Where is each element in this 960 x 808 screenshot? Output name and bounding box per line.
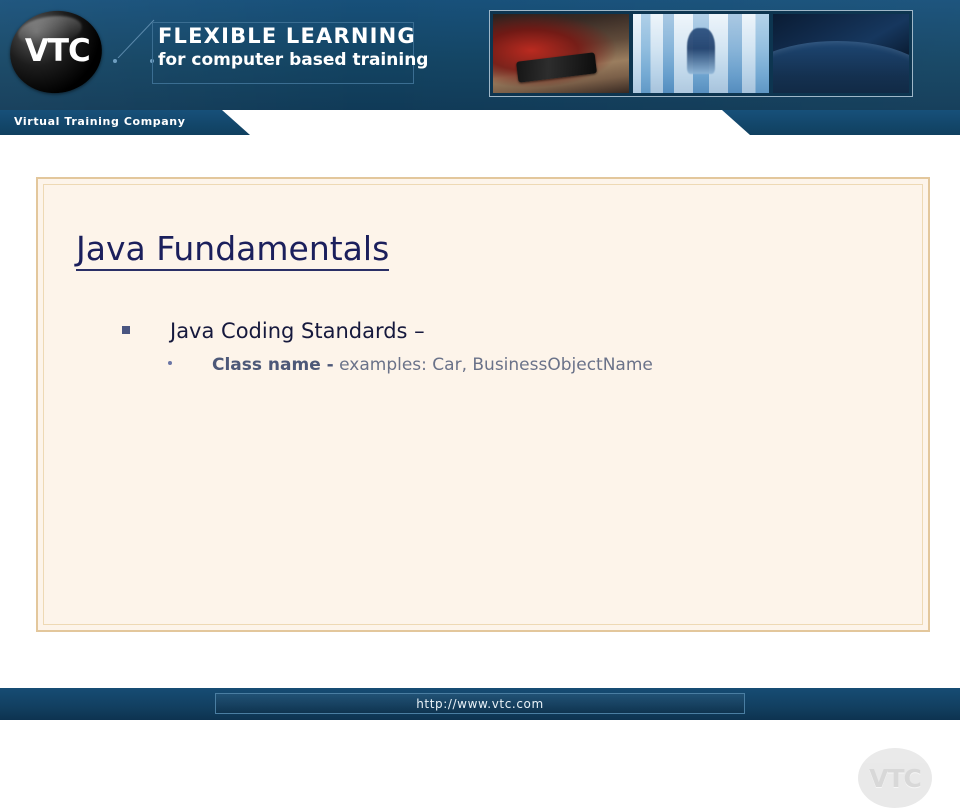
connector-line-icon	[116, 18, 156, 58]
tagline-primary: FLEXIBLE LEARNING	[158, 26, 410, 47]
round-bullet-icon	[168, 361, 172, 365]
logo-label: VTC	[24, 35, 89, 66]
footer-url-label: http://www.vtc.com	[416, 697, 544, 711]
bullet-level2-rest: examples: Car, BusinessObjectName	[334, 355, 653, 375]
page-header: VTC FLEXIBLE LEARNING for computer based…	[0, 0, 960, 110]
square-bullet-icon	[122, 326, 130, 334]
night-skyline-light-photo	[773, 14, 909, 93]
connector-dot-left-icon	[113, 59, 117, 63]
footer-url-box[interactable]: http://www.vtc.com	[215, 693, 745, 714]
company-name-label: Virtual Training Company	[14, 115, 185, 128]
hand-on-calculator-photo	[493, 14, 629, 93]
slide-title: Java Fundamentals	[76, 232, 389, 271]
vtc-watermark-label: VTC	[869, 764, 921, 793]
vtc-oval-logo-icon: VTC	[5, 5, 108, 99]
page-footer: http://www.vtc.com	[0, 688, 960, 720]
bullet-level2-strong: Class name -	[212, 355, 334, 375]
slide-area: Java Fundamentals Java Coding Standards …	[0, 135, 960, 688]
bullet-level1-label: Java Coding Standards –	[170, 321, 425, 342]
slide-content-panel: Java Fundamentals Java Coding Standards …	[36, 177, 930, 632]
vtc-watermark-icon: VTC	[858, 748, 932, 808]
bullet-level2-item: Class name - examples: Car, BusinessObje…	[168, 357, 653, 374]
bullet-level1-item: Java Coding Standards –	[122, 321, 425, 342]
header-tab-row: Virtual Training Company	[0, 110, 960, 135]
header-accent-shape-right	[716, 110, 960, 135]
banner-photo-strip	[489, 10, 913, 97]
tagline-secondary: for computer based training	[158, 52, 410, 69]
bullet-level2-label: Class name - examples: Car, BusinessObje…	[212, 357, 653, 374]
businessman-in-motion-blur-photo	[633, 14, 769, 93]
